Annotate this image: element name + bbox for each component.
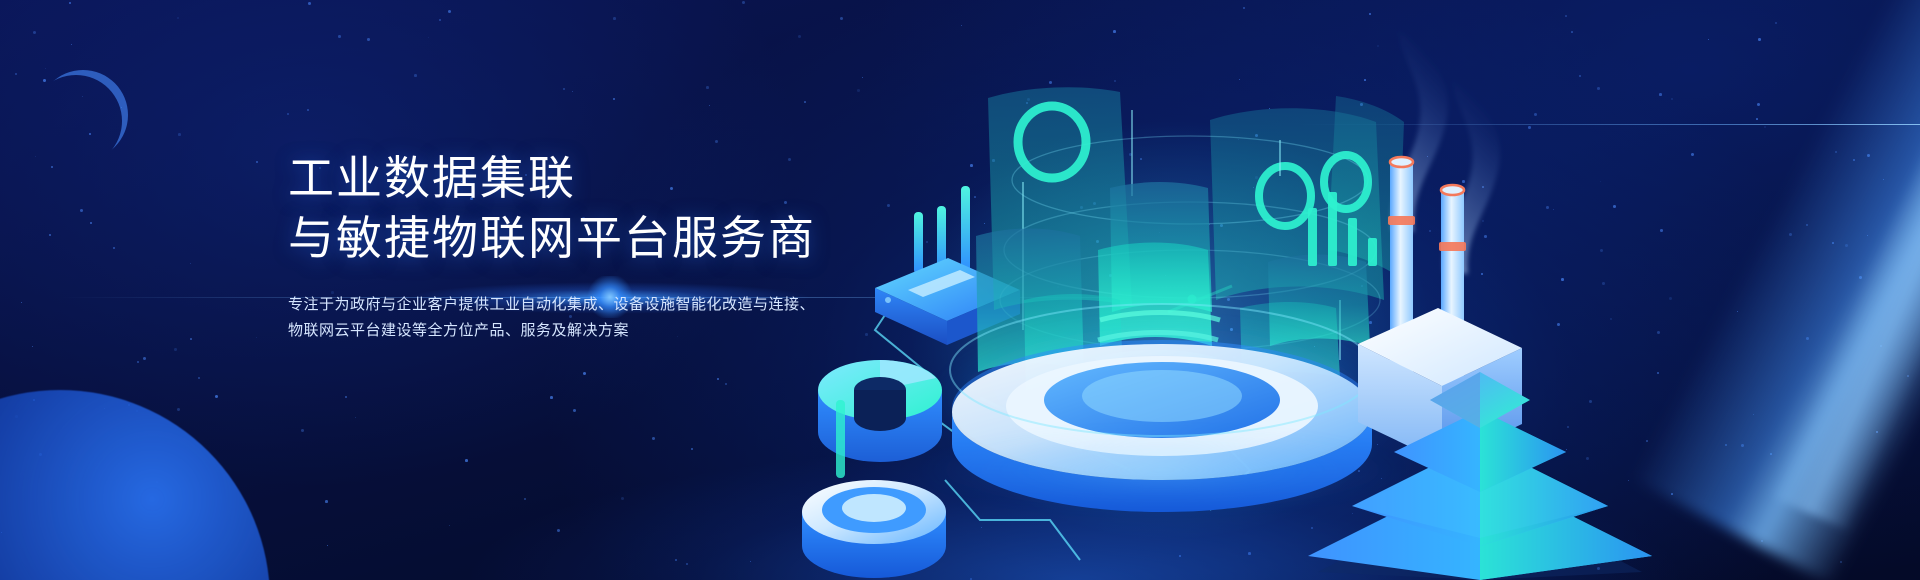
subtitle-line-2: 物联网云平台建设等全方位产品、服务及解决方案 bbox=[288, 318, 816, 344]
hero-copy: 工业数据集联 与敏捷物联网平台服务商 专注于为政府与企业客户提供工业自动化集成、… bbox=[288, 148, 816, 344]
subtitle-line-1: 专注于为政府与企业客户提供工业自动化集成、设备设施智能化改造与连接、 bbox=[288, 292, 816, 318]
hero-banner: 工业数据集联 与敏捷物联网平台服务商 专注于为政府与企业客户提供工业自动化集成、… bbox=[0, 0, 1920, 580]
ring-cylinder bbox=[802, 480, 946, 578]
headline-line-1: 工业数据集联 bbox=[288, 148, 816, 208]
page-title: 工业数据集联 与敏捷物联网平台服务商 bbox=[288, 148, 816, 268]
page-subtitle: 专注于为政府与企业客户提供工业自动化集成、设备设施智能化改造与连接、 物联网云平… bbox=[288, 292, 816, 344]
headline-line-2: 与敏捷物联网平台服务商 bbox=[288, 208, 816, 268]
hero-illustration bbox=[780, 0, 1920, 580]
crescent-moon-icon bbox=[38, 70, 128, 160]
